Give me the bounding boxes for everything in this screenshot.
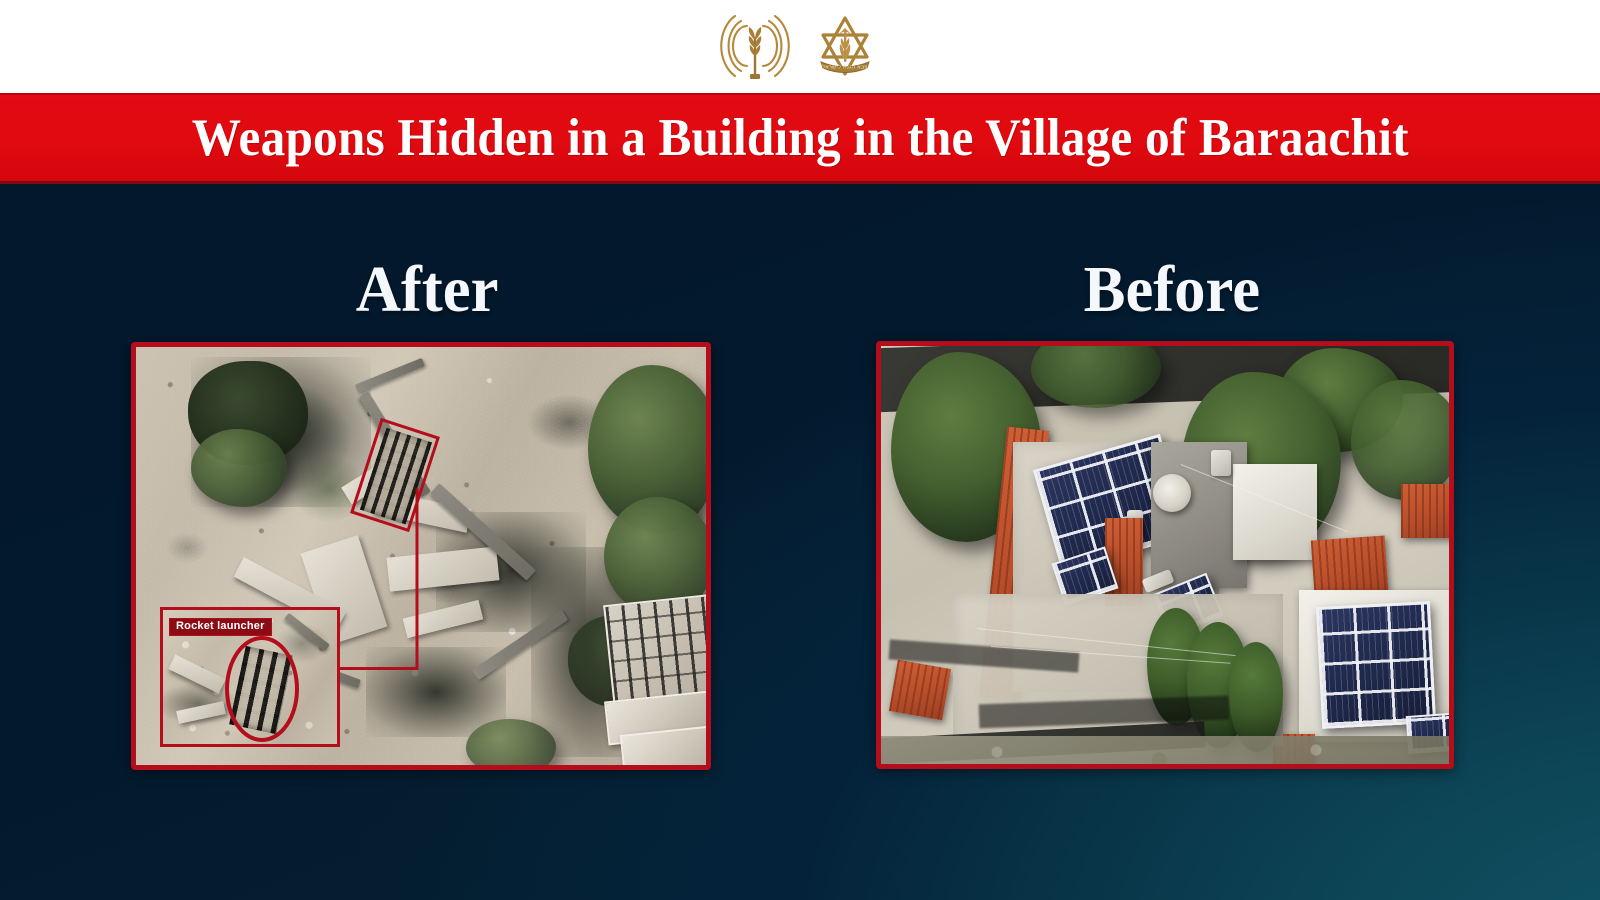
white-roof-right xyxy=(1233,464,1317,560)
slide-root: צבא הגנה לישראל Weapons Hidden in a Buil… xyxy=(0,0,1600,900)
photo-after[interactable]: Rocket launcher xyxy=(131,342,711,770)
idf-insignia-icon: צבא הגנה לישראל xyxy=(809,10,881,84)
header-logo-bar: צבא הגנה לישראל xyxy=(0,0,1600,93)
idf-spokesperson-broadcast-emblem-icon xyxy=(719,10,791,84)
tree-far-right xyxy=(1351,380,1449,500)
photo-before-canvas xyxy=(881,346,1449,764)
tree-left-green xyxy=(191,429,287,507)
rocket-launcher-ellipse[interactable] xyxy=(225,636,299,742)
solar-panel-array-secondary xyxy=(1316,601,1436,729)
photo-after-canvas: Rocket launcher xyxy=(136,347,706,765)
collapsed-roof-grid xyxy=(603,593,706,705)
svg-text:צבא הגנה לישראל: צבא הגנה לישראל xyxy=(822,63,867,70)
panel-heading-after: After xyxy=(356,252,499,328)
title-banner: Weapons Hidden in a Building in the Vill… xyxy=(0,93,1600,184)
satellite-dish xyxy=(1153,474,1191,512)
panel-heading-before: Before xyxy=(1084,252,1260,328)
page-title: Weapons Hidden in a Building in the Vill… xyxy=(192,108,1409,168)
photo-before[interactable] xyxy=(876,341,1454,769)
rocket-launcher-inset[interactable]: Rocket launcher xyxy=(160,607,340,747)
annotation-connector-horizontal xyxy=(336,667,418,670)
rocket-launcher-inset-label: Rocket launcher xyxy=(169,618,272,636)
tile-roof-bottom-left xyxy=(889,660,951,721)
tile-roof-right-edge xyxy=(1401,484,1449,538)
annotation-connector-vertical xyxy=(416,489,419,670)
water-tank-1 xyxy=(1211,450,1231,476)
scrub-vegetation-bottom xyxy=(881,736,1449,764)
tile-roof-centre xyxy=(1105,518,1143,606)
